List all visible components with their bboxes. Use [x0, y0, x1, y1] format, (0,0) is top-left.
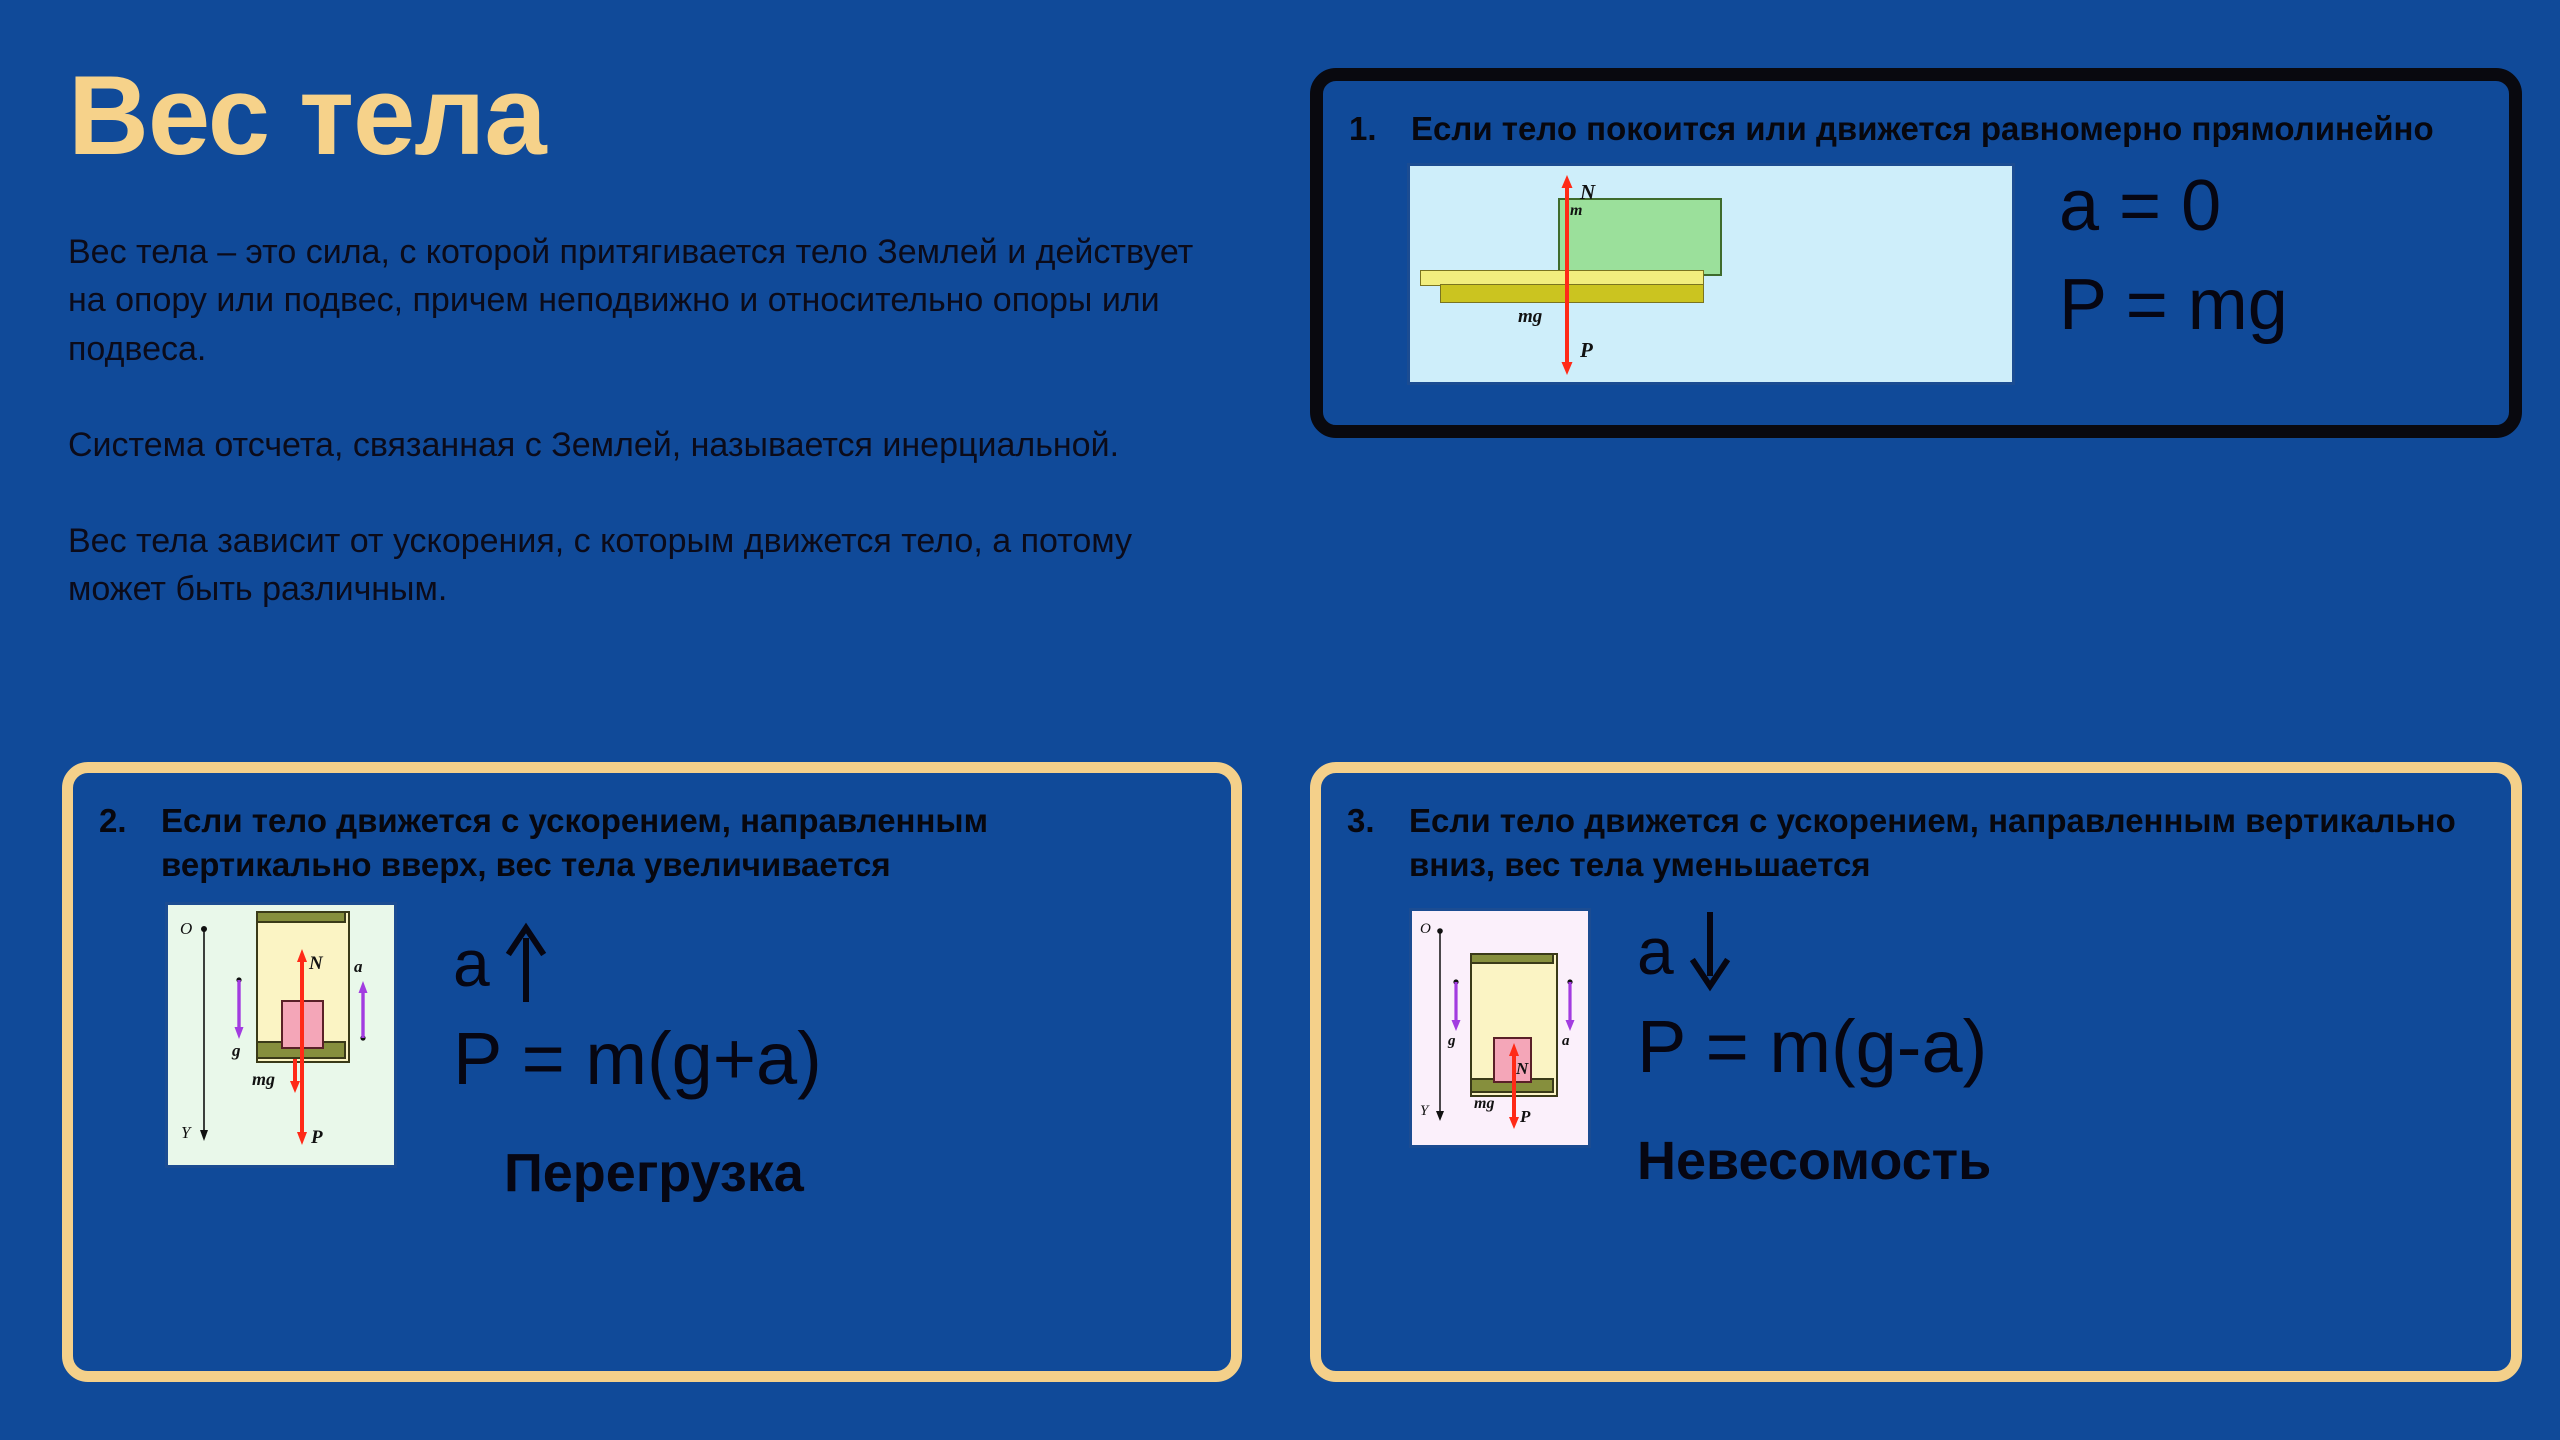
page-title: Вес тела [68, 60, 1248, 172]
weight-force-label: P⃗ [1520, 1107, 1544, 1127]
elevator-ceiling [256, 911, 346, 923]
acceleration-symbol: a [453, 925, 490, 1001]
y-axis-label: Y [181, 1123, 190, 1143]
gravity-acceleration-label: g⃗ [1448, 1033, 1467, 1050]
normal-force-label: N⃗ [1580, 180, 1612, 205]
y-axis-arrow [198, 925, 210, 1143]
figure-elevator-accelerating-down: O Y g⃗ [1409, 908, 1591, 1148]
gravity-acceleration-label: g⃗ [232, 1041, 254, 1061]
panel-2-number: 2. [99, 799, 161, 843]
definition-paragraph: Вес тела – это сила, с которой притягива… [68, 228, 1228, 373]
panel-1-body: m N⃗ P⃗ mg⃗ [1323, 151, 2509, 385]
arrow-down-icon [1688, 910, 1732, 992]
acceleration-label: a⃗ [1562, 1033, 1581, 1050]
figure-body-at-rest: m N⃗ P⃗ mg⃗ [1407, 163, 2015, 385]
origin-label: O [180, 919, 192, 939]
weight-formula: P = m(g-a) [1637, 1008, 2017, 1086]
gravity-force-label: mg⃗ [1474, 1095, 1507, 1113]
weight-formula: P = mg [2059, 268, 2288, 344]
origin-label: O [1420, 921, 1431, 938]
panel-1-formulas: a = 0 P = mg [2059, 151, 2288, 344]
panel-3-title: Если тело движется с ускорением, направл… [1409, 799, 2477, 886]
acceleration-vector [357, 979, 369, 1041]
gravity-acceleration-vector [233, 977, 245, 1041]
reference-frame-paragraph: Система отсчета, связанная с Землей, наз… [68, 421, 1228, 469]
case-panel-1: 1. Если тело покоится или движется равно… [1310, 68, 2522, 438]
y-axis-label: Y [1420, 1103, 1428, 1120]
gravity-force-label: mg⃗ [1518, 306, 1557, 328]
panel-3-header: 3. Если тело движется с ускорением, напр… [1321, 773, 2511, 886]
weight-formula: P = m(g+a) [453, 1020, 822, 1098]
weightlessness-term: Невесомость [1637, 1130, 2017, 1192]
panel-2-body: O Y g⃗ [73, 886, 1231, 1204]
weight-force-vector [1508, 1071, 1520, 1131]
acceleration-direction-row: a [1637, 910, 2017, 992]
normal-force-label: N⃗ [309, 953, 338, 975]
case-panel-3: 3. Если тело движется с ускорением, напр… [1310, 762, 2522, 1382]
acceleration-formula: a = 0 [2059, 169, 2288, 245]
dependence-paragraph: Вес тела зависит от ускорения, с которым… [68, 517, 1228, 614]
overload-term: Перегрузка [453, 1142, 822, 1204]
panel-3-number: 3. [1347, 799, 1409, 843]
weight-force-label: P⃗ [311, 1127, 337, 1149]
mass-block [1558, 198, 1722, 276]
panel-2-title: Если тело движется с ускорением, направл… [161, 799, 1197, 886]
intro-section: Вес тела Вес тела – это сила, с которой … [68, 60, 1248, 614]
panel-1-title: Если тело покоится или движется равномер… [1411, 107, 2434, 151]
slide-canvas: Вес тела Вес тела – это сила, с которой … [0, 0, 2560, 1440]
acceleration-vector [1564, 979, 1576, 1033]
acceleration-label: a⃗ [354, 957, 376, 977]
weight-force-vector [1560, 266, 1574, 376]
figure-elevator-accelerating-up: O Y g⃗ [165, 902, 397, 1168]
panel-3-body: O Y g⃗ [1321, 886, 2511, 1192]
panel-1-header: 1. Если тело покоится или движется равно… [1323, 81, 2509, 151]
gravity-force-vector [289, 1057, 301, 1095]
arrow-up-icon [504, 922, 548, 1004]
acceleration-direction-row: a [453, 922, 822, 1004]
panel-3-formulas: a P = m(g-a) Невесомость [1637, 886, 2017, 1192]
panel-1-number: 1. [1349, 107, 1411, 151]
panel-2-formulas: a P = m(g+a) Перегрузка [453, 886, 822, 1204]
acceleration-symbol: a [1637, 913, 1674, 989]
elevator-ceiling [1470, 953, 1554, 964]
panel-2-header: 2. Если тело движется с ускорением, напр… [73, 773, 1231, 886]
case-panel-2: 2. Если тело движется с ускорением, напр… [62, 762, 1242, 1382]
y-axis-arrow [1434, 927, 1446, 1123]
gravity-acceleration-vector [1450, 979, 1462, 1033]
gravity-force-label: mg⃗ [252, 1069, 289, 1090]
weight-force-label: P⃗ [1580, 338, 1609, 363]
